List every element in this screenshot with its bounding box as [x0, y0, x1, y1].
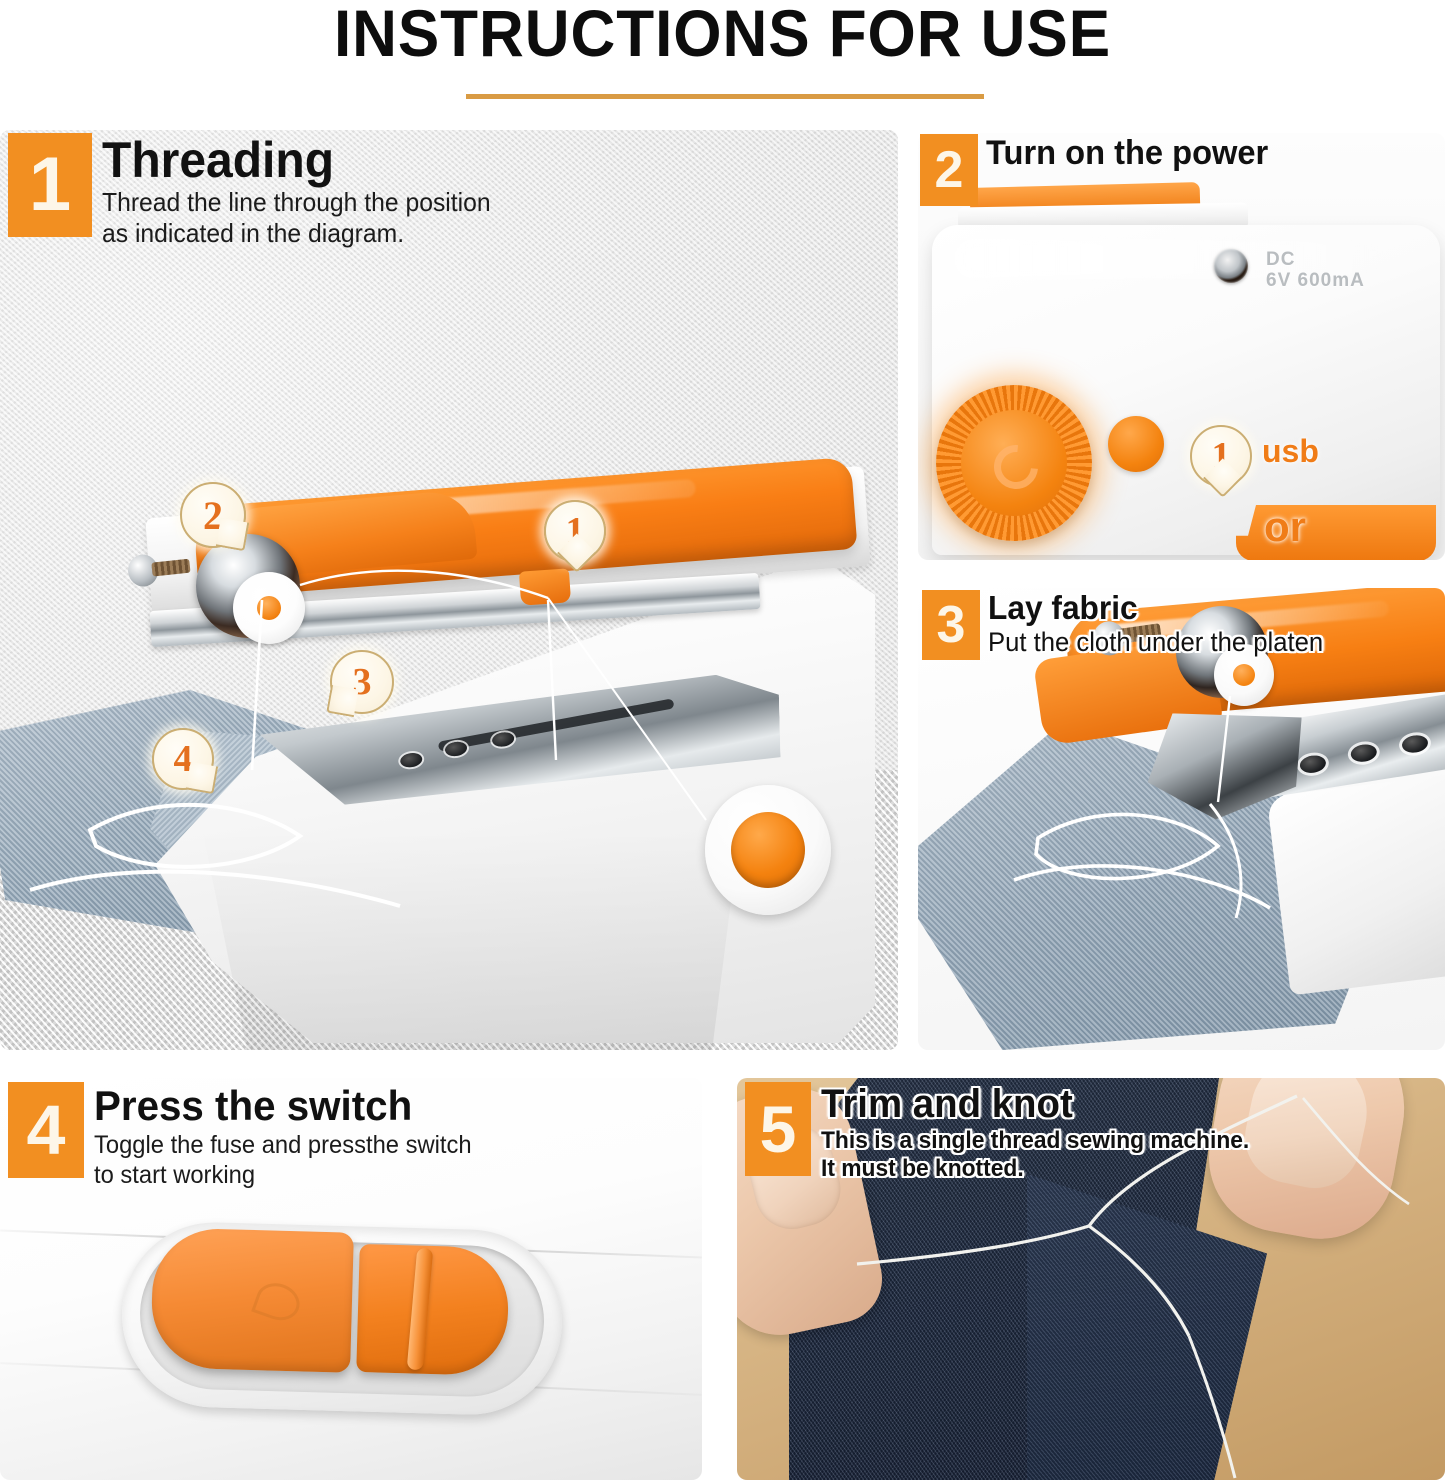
- callout-number: 1: [566, 509, 585, 553]
- callout-number: 1: [1212, 434, 1231, 478]
- step-title-4: Press the switch: [94, 1082, 476, 1130]
- step-subtitle-5-line2: It must be knotted.: [821, 1155, 1249, 1183]
- round-button[interactable]: [1108, 416, 1164, 472]
- step-header-2: 2 Turn on the power: [920, 134, 1280, 206]
- callout-bubble-1: 1: [544, 500, 606, 562]
- step-subtitle-5-line1: This is a single thread sewing machine.: [821, 1127, 1249, 1155]
- step-header-1: 1 Threading Thread the line through the …: [8, 133, 511, 249]
- dc-rating-label: DC 6V 600mA: [1266, 249, 1365, 291]
- callout-number: 3: [353, 660, 372, 704]
- callout-number: 2: [203, 492, 223, 539]
- step-subtitle-4-line2: to start working: [94, 1160, 472, 1190]
- power-button[interactable]: [705, 785, 831, 915]
- step-title-3: Lay fabric: [988, 590, 1327, 626]
- step-subtitle-1-line2: as indicated in the diagram.: [102, 218, 491, 249]
- step-subtitle-4-line1: Toggle the fuse and pressthe switch: [94, 1130, 472, 1160]
- step-header-5: 5 Trim and knot This is a single thread …: [745, 1082, 1272, 1183]
- step-badge-4: 4: [8, 1082, 84, 1178]
- title-divider: [466, 94, 984, 99]
- step-title-2: Turn on the power: [986, 134, 1268, 172]
- dc-jack-icon: [1214, 249, 1248, 283]
- step-title-1: Threading: [102, 133, 495, 187]
- callout-bubble-2: 2: [180, 482, 246, 548]
- switch-slider-main[interactable]: [150, 1227, 354, 1373]
- step-badge-3: 3: [922, 590, 980, 660]
- step-badge-1: 1: [8, 133, 92, 237]
- dc-label-line2: 6V 600mA: [1266, 270, 1365, 291]
- step-badge-2: 2: [920, 134, 978, 206]
- switch-slider-fuse[interactable]: [356, 1244, 510, 1376]
- step-header-4: 4 Press the switch Toggle the fuse and p…: [8, 1082, 491, 1190]
- step-panel-threading: 2 1 3 4: [0, 130, 898, 1050]
- dc-label-line1: DC: [1266, 249, 1365, 270]
- callout-bubble-3: 3: [330, 650, 394, 714]
- callout-bubble-usb: 1: [1190, 425, 1252, 487]
- step-subtitle-1-line1: Thread the line through the position: [102, 187, 491, 218]
- callout-number: 4: [174, 737, 193, 781]
- callout-bubble-4: 4: [152, 728, 214, 790]
- usb-option-label: usb: [1262, 433, 1319, 470]
- step-header-3: 3 Lay fabric Put the cloth under the pla…: [922, 590, 1341, 660]
- machine-body-shadow: [180, 830, 740, 1050]
- step-badge-5: 5: [745, 1082, 811, 1176]
- or-separator-label: or: [1264, 503, 1306, 551]
- step-subtitle-3-line1: Put the cloth under the platen: [988, 626, 1323, 658]
- step-title-5: Trim and knot: [821, 1082, 1254, 1127]
- thread-guide-tip: [519, 568, 571, 605]
- tension-knob: [233, 572, 305, 644]
- page-title: INSTRUCTIONS FOR USE: [43, 0, 1401, 68]
